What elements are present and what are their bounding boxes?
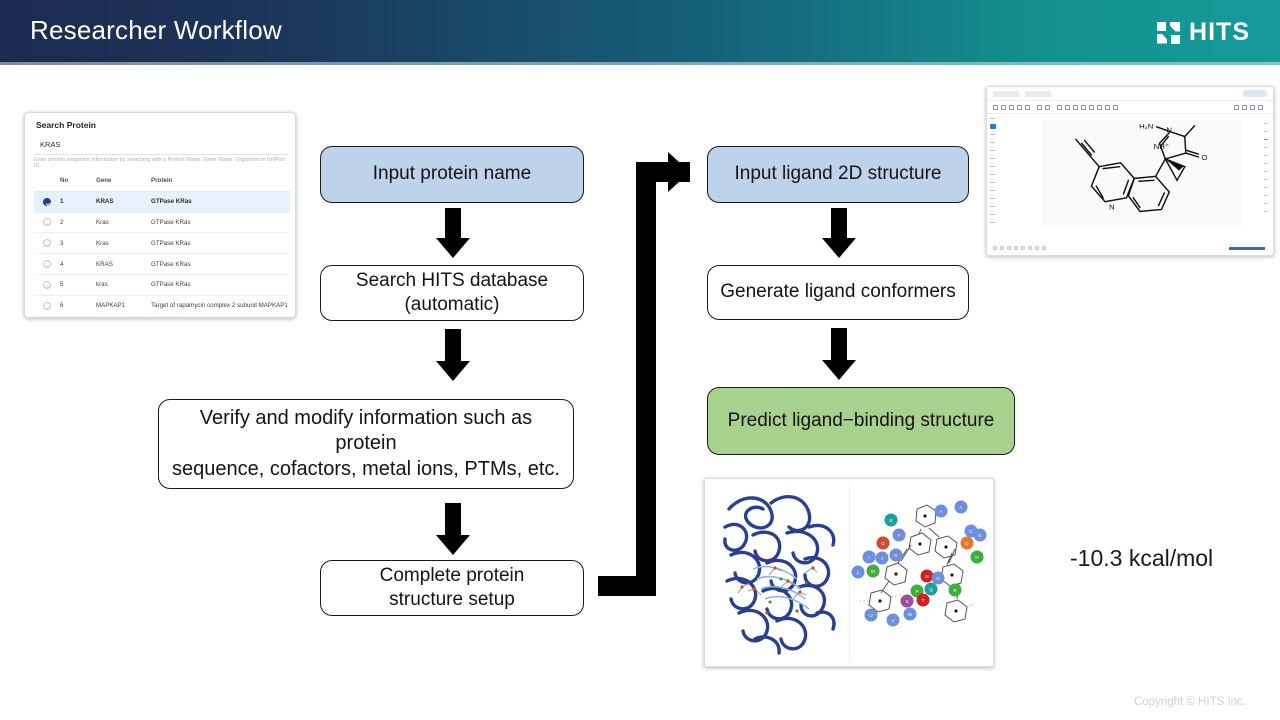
col-protein: Protein — [151, 177, 290, 184]
svg-text:P: P — [915, 589, 918, 594]
flow-box-generate-ligand-conformers[interactable]: Generate ligand conformers — [707, 265, 969, 320]
row-checkbox[interactable] — [34, 198, 60, 206]
flow-box-label-line1: Complete protein — [380, 564, 525, 588]
row-checkbox[interactable] — [34, 260, 60, 268]
cell-gene: Kras — [96, 219, 151, 226]
ligand-editor-left-rail[interactable] — [988, 116, 998, 239]
table-row[interactable]: 5 kras GTPase KRas — [34, 275, 290, 296]
connector-arrow-to-ligand-branch-icon — [596, 162, 696, 596]
flow-box-input-ligand-2d-structure[interactable]: Input ligand 2D structure — [707, 146, 969, 203]
row-checkbox[interactable] — [34, 239, 60, 247]
svg-text:F: F — [898, 533, 901, 538]
page-title: Researcher Workflow — [30, 15, 282, 46]
cell-no: 5 — [60, 281, 96, 288]
row-checkbox[interactable] — [34, 302, 60, 310]
table-header-row: No Gene Protein — [34, 171, 290, 192]
protein-ribbon-icon — [709, 483, 849, 664]
svg-text:NH⁺: NH⁺ — [1154, 142, 1169, 151]
svg-text:O: O — [936, 576, 940, 581]
check-circle-icon[interactable] — [43, 218, 51, 226]
arrow-down-4-icon — [814, 208, 864, 258]
copyright-text: Copyright © HITS Inc. — [1134, 696, 1246, 708]
ligand-editor-toolbar[interactable] — [987, 101, 1273, 114]
row-checkbox[interactable] — [34, 281, 60, 289]
svg-text:N: N — [1166, 126, 1172, 135]
svg-text:A: A — [959, 505, 962, 510]
cell-gene: Kras — [96, 240, 151, 247]
svg-text:O: O — [1201, 153, 1207, 162]
cell-no: 4 — [60, 261, 96, 268]
page-header: Researcher Workflow HITS — [0, 0, 1280, 62]
svg-text:I: I — [868, 555, 869, 560]
check-circle-icon[interactable] — [43, 198, 51, 206]
flow-box-label-line2: structure setup — [389, 588, 515, 612]
protein-results-table: No Gene Protein 1 KRAS GTPase KRas 2 Kra… — [34, 171, 290, 317]
header-divider — [0, 62, 1280, 65]
svg-text:Q: Q — [929, 587, 933, 592]
search-protein-help-text: Enter protein sequence information by se… — [34, 157, 290, 169]
cell-no: 2 — [60, 219, 96, 226]
flow-box-verify-and-modify[interactable]: Verify and modify information such as pr… — [158, 399, 574, 489]
svg-text:S: S — [905, 599, 908, 604]
flow-box-label-line2: (automatic) — [404, 293, 499, 317]
svg-text:V: V — [891, 618, 894, 623]
flow-box-label: Predict ligand−binding structure — [728, 409, 995, 433]
svg-text:N: N — [1109, 202, 1115, 211]
svg-text:G: G — [881, 541, 885, 546]
slide-canvas: Researcher Workflow HITS Search Protein … — [0, 0, 1280, 720]
flow-box-label-line1: Verify and modify information such as pr… — [169, 406, 563, 457]
hits-logo-text: HITS — [1189, 18, 1250, 47]
col-gene: Gene — [96, 177, 151, 184]
flow-box-label: Input protein name — [373, 162, 531, 186]
svg-text:T: T — [922, 598, 925, 603]
cell-gene: kras — [96, 281, 151, 288]
cell-protein: GTPase KRas — [151, 240, 290, 247]
table-row[interactable]: 1 KRAS GTPase KRas — [34, 192, 290, 213]
check-circle-icon[interactable] — [43, 302, 51, 310]
table-row[interactable]: 2 Kras GTPase KRas — [34, 213, 290, 234]
arrow-down-3-icon — [428, 503, 478, 555]
svg-text:H₂N: H₂N — [1139, 122, 1153, 131]
result-screenshot[interactable]: A A B C D E F G H I J K L M N O P Q R S — [704, 478, 994, 667]
svg-text:H: H — [975, 555, 978, 560]
flow-box-complete-protein-structure-setup[interactable]: Complete protein structure setup — [320, 560, 584, 616]
ligand-editor-footer-controls[interactable] — [993, 246, 1046, 250]
table-row[interactable]: 4 KRAS GTPase KRas — [34, 254, 290, 275]
flow-box-label: Generate ligand conformers — [720, 280, 956, 304]
arrow-down-1-icon — [428, 208, 478, 258]
cell-gene: KRAS — [96, 261, 151, 268]
flow-box-search-hits-database[interactable]: Search HITS database (automatic) — [320, 265, 584, 321]
arrow-down-2-icon — [428, 329, 478, 381]
cell-no: 6 — [60, 302, 96, 309]
hits-logo: HITS — [1157, 18, 1250, 47]
binding-score-value: -10.3 kcal/mol — [1070, 545, 1213, 572]
svg-text:E: E — [978, 533, 981, 538]
svg-text:N: N — [925, 574, 928, 579]
svg-text:U: U — [869, 613, 872, 618]
cell-protein: GTPase KRas — [151, 261, 290, 268]
cell-no: 3 — [60, 240, 96, 247]
check-circle-icon[interactable] — [43, 281, 51, 289]
ligand-structure-drawing-icon: H₂N N NH⁺ O N — [1041, 120, 1243, 227]
cell-protein: GTPase KRas — [151, 219, 290, 226]
ligand-editor-screenshot[interactable]: H₂N N NH⁺ O N — [986, 86, 1274, 256]
cell-gene: MAPKAP1 — [96, 302, 151, 309]
svg-text:J: J — [881, 556, 883, 561]
ligand-editor-progress-bar — [1229, 247, 1265, 250]
search-protein-title: Search Protein — [36, 120, 96, 130]
hits-logo-mark-icon — [1157, 22, 1180, 44]
flow-box-label: Input ligand 2D structure — [734, 162, 941, 186]
ligand-editor-action-pill[interactable] — [1243, 90, 1267, 97]
ligand-editor-canvas[interactable]: H₂N N NH⁺ O N — [1041, 120, 1243, 227]
svg-text:M: M — [871, 569, 875, 574]
cell-gene: KRAS — [96, 198, 151, 205]
cell-protein: GTPase KRas — [151, 198, 290, 205]
protein-query-input[interactable]: KRAS — [34, 136, 288, 155]
cell-protein: Target of rapamycin complex 2 subunit MA… — [151, 302, 290, 309]
table-row[interactable]: 6 MAPKAP1 Target of rapamycin complex 2 … — [34, 296, 290, 317]
flow-box-predict-ligand-binding-structure[interactable]: Predict ligand−binding structure — [707, 387, 1015, 455]
svg-text:B: B — [889, 518, 892, 523]
svg-text:A: A — [939, 509, 942, 514]
flow-box-label-line2: sequence, cofactors, metal ions, PTMs, e… — [172, 457, 560, 483]
arrow-down-5-icon — [814, 328, 864, 380]
check-circle-icon[interactable] — [43, 239, 51, 247]
ligand-interaction-diagram-icon: A A B C D E F G H I J K L M N O P Q R S — [849, 483, 989, 664]
table-row[interactable]: 3 Kras GTPase KRas — [34, 233, 290, 254]
check-circle-icon[interactable] — [43, 260, 51, 268]
svg-text:K: K — [894, 553, 897, 558]
search-protein-screenshot[interactable]: Search Protein KRAS Enter protein sequen… — [24, 112, 296, 318]
row-checkbox[interactable] — [34, 218, 60, 226]
ligand-editor-topbar — [987, 87, 1273, 101]
flow-box-input-protein-name[interactable]: Input protein name — [320, 146, 584, 203]
protein-query-value: KRAS — [40, 140, 60, 149]
flow-box-label-line1: Search HITS database — [356, 269, 548, 293]
cell-protein: GTPase KRas — [151, 281, 290, 288]
cell-no: 1 — [60, 198, 96, 205]
ligand-editor-right-rail[interactable] — [1262, 123, 1271, 237]
col-no: No — [60, 177, 96, 184]
